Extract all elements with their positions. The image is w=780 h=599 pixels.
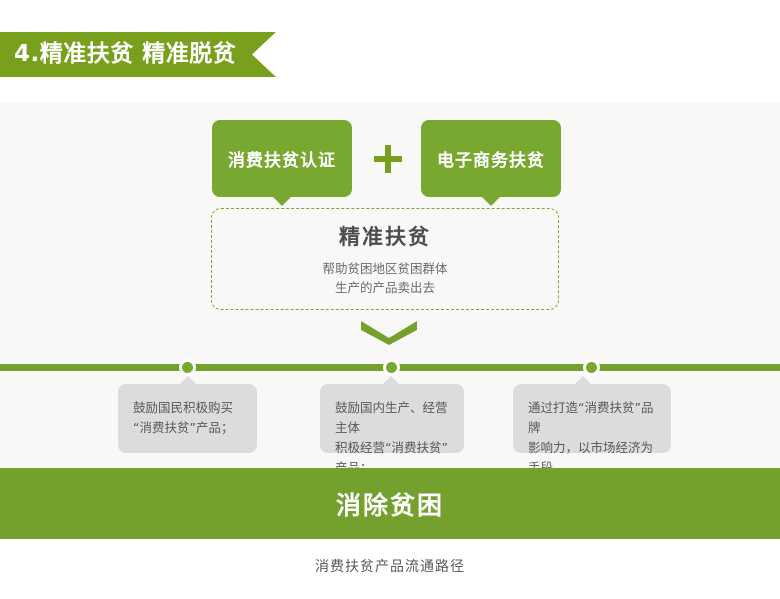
- outcome-banner: 消除贫困: [0, 468, 780, 539]
- chevron-down-icon: [361, 321, 417, 345]
- plus-icon: [374, 145, 402, 173]
- note-box-1: 鼓励国民积极购买 “消费扶贫”产品；: [118, 384, 257, 453]
- note-line: 鼓励国内生产、经营主体: [335, 398, 449, 438]
- flow-box-consumption-certification[interactable]: 消费扶贫认证: [212, 120, 352, 197]
- infographic-page: 4.精准扶贫 精准脱贫 消费扶贫认证 电子商务扶贫 精准扶贫 帮助贫困地区贫困群…: [0, 0, 780, 599]
- connector-node-dot-2: [383, 359, 400, 376]
- flow-box-ecommerce-poverty-alleviation[interactable]: 电子商务扶贫: [421, 120, 561, 197]
- box-pointer-notch: [273, 197, 291, 206]
- connector-node-dot-1: [179, 359, 196, 376]
- focus-title: 精准扶贫: [339, 221, 431, 251]
- focus-subtitle-line-1: 帮助贫困地区贫困群体: [322, 260, 447, 278]
- diagram-caption: 消费扶贫产品流通路径: [0, 556, 780, 576]
- flow-box-label: 电子商务扶贫: [437, 146, 545, 171]
- note-box-3: 通过打造“消费扶贫”品牌 影响力，以市场经济为手段， 开辟扶贫新举措；: [513, 384, 671, 453]
- note-line: 鼓励国民积极购买: [133, 398, 242, 418]
- section-title: 4.精准扶贫 精准脱贫: [14, 32, 236, 77]
- note-box-2: 鼓励国内生产、经营主体 积极经营“消费扶贫”产品；: [320, 384, 464, 453]
- note-line: “消费扶贫”产品；: [133, 418, 242, 438]
- note-line: 通过打造“消费扶贫”品牌: [528, 398, 656, 438]
- outcome-label: 消除贫困: [336, 486, 444, 522]
- connector-node-dot-3: [583, 359, 600, 376]
- note-pointer-notch: [383, 376, 399, 384]
- box-pointer-notch: [482, 197, 500, 206]
- note-pointer-notch: [575, 376, 591, 384]
- focus-dashed-box: 精准扶贫 帮助贫困地区贫困群体 生产的产品卖出去: [211, 208, 559, 310]
- section-header-ribbon: 4.精准扶贫 精准脱贫: [0, 32, 276, 77]
- focus-subtitle: 帮助贫困地区贫困群体 生产的产品卖出去: [322, 260, 447, 296]
- note-pointer-notch: [180, 376, 196, 384]
- flow-box-label: 消费扶贫认证: [228, 146, 336, 171]
- focus-subtitle-line-2: 生产的产品卖出去: [322, 279, 447, 297]
